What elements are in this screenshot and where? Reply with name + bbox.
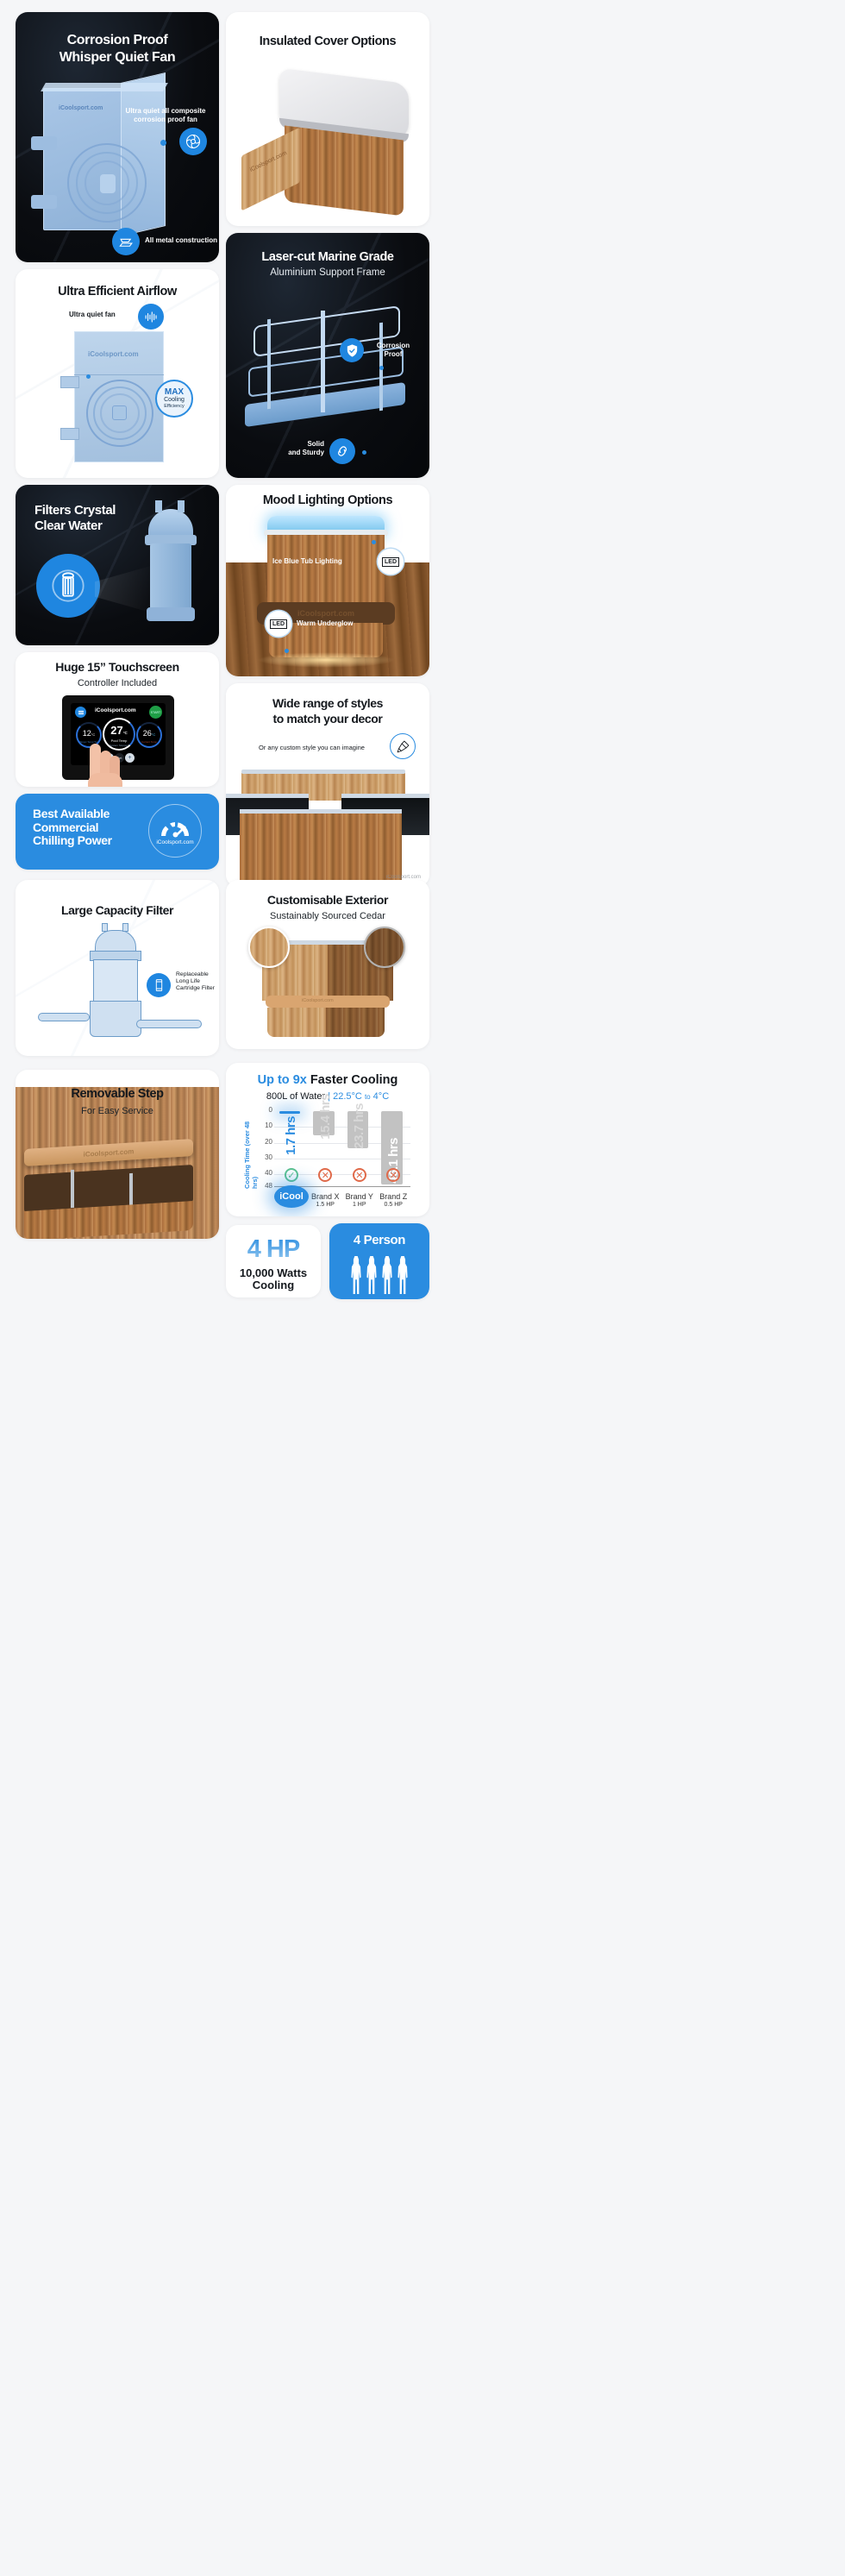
- cedar-panel: [285, 126, 404, 217]
- callout-line2: corrosion proof fan: [117, 116, 214, 124]
- current-temp-label: Current Temp: [138, 740, 160, 744]
- anchor-dot: [160, 140, 166, 146]
- callout-custom-style: Or any custom style you can imagine: [259, 744, 365, 751]
- person-icon: [397, 1256, 409, 1294]
- subtitle-to-word: to: [365, 1093, 371, 1101]
- card-subtitle: For Easy Service: [16, 1106, 219, 1117]
- screen-logo: iCoolsport.com: [95, 707, 136, 713]
- chart-bar-value-label: 1.7 hrs: [284, 1116, 298, 1155]
- target-temp-unit: °C: [91, 732, 96, 737]
- card-title-line1: Wide range of styles: [226, 697, 429, 711]
- card-title: Customisable Exterior: [226, 894, 429, 908]
- callout-all-metal: All metal construction: [145, 236, 217, 245]
- badge-cooling: Cooling: [164, 397, 185, 404]
- target-temp-value: 12: [83, 729, 91, 738]
- base-logo: iCoolsport.com: [297, 609, 354, 618]
- card-title: Removable Step: [16, 1087, 219, 1101]
- card-customisable-exterior: Customisable Exterior Sustainably Source…: [226, 880, 429, 1049]
- chart-title: Up to 9x Faster Cooling Up to 9x Faster …: [226, 1073, 429, 1087]
- card-title: Mood Lighting Options: [226, 493, 429, 507]
- pool-temp-label: Pool Temp: [104, 738, 134, 743]
- person-icon: [366, 1256, 378, 1294]
- person-icon: [350, 1256, 362, 1294]
- callout-ultra-quiet-text: Ultra quiet all composite corrosion proo…: [117, 107, 214, 123]
- max-cooling-efficiency-badge: MAX Cooling Efficiency: [155, 380, 193, 418]
- chart-x-label-group: Brand X1.5 HP: [309, 1192, 343, 1209]
- anchor-dot: [362, 450, 366, 455]
- card-mood-lighting: Mood Lighting Options iCoolsport.com Ice…: [226, 485, 429, 676]
- hot-tub-illustration: iCoolsport.com: [264, 516, 388, 663]
- chart-x-label: Brand Y: [342, 1192, 377, 1202]
- aluminium-frame-illustration: [241, 300, 414, 438]
- callout-line2: Proof: [367, 350, 419, 359]
- chart-x-label-group: Brand Z0.5 HP: [377, 1192, 411, 1209]
- filter-cartridge-icon: [36, 554, 100, 618]
- card-title: Ultra Efficient Airflow: [16, 285, 219, 298]
- current-temp-value: 26: [143, 729, 152, 738]
- chart-bar: [279, 1111, 300, 1114]
- cartridge-icon: [147, 973, 171, 997]
- anchor-dot: [86, 374, 91, 379]
- card-title: Laser-cut Marine Grade: [226, 250, 429, 264]
- chart-y-tick: 10: [253, 1122, 272, 1129]
- chart-x-label-group: Brand Y1 HP: [342, 1192, 377, 1209]
- callout-line2: and Sturdy: [276, 449, 324, 457]
- step-divider: [71, 1170, 74, 1208]
- chart-bar-value-label: 15.4 hrs: [318, 1094, 333, 1140]
- person-icon-group: [329, 1256, 429, 1294]
- card-title-line2: Whisper Quiet Fan: [16, 50, 219, 66]
- callout-warm-underglow: Warm Underglow: [297, 619, 353, 628]
- tub-cedar-wall: [267, 535, 385, 604]
- chart-title-rest: Faster Cooling: [310, 1073, 398, 1087]
- callout-line2: Long Life: [176, 978, 219, 985]
- anchor-dot: [379, 366, 384, 370]
- chain-link-icon: [329, 438, 355, 464]
- led-icon: LED: [378, 549, 404, 575]
- steel-beam-icon: [112, 228, 140, 255]
- chiller-logo: iCoolsport.com: [59, 105, 103, 111]
- person-icon: [381, 1256, 393, 1294]
- bar-chart: Cooling Time (over 48 hrs) 1.7 hrs✓15.4 …: [247, 1109, 416, 1206]
- card-title-line2: to match your decor: [226, 713, 429, 726]
- chilling-power-text: Best Available Commercial Chilling Power: [33, 807, 112, 848]
- card-corrosion-proof-fan: Corrosion Proof Whisper Quiet Fan iCools…: [16, 12, 219, 262]
- chart-x-sublabel: 1.5 HP: [309, 1202, 343, 1209]
- chart-x-label: Brand X: [309, 1192, 343, 1202]
- card-insulated-cover: Insulated Cover Options iCoolsport.com: [226, 12, 429, 226]
- chart-title-accent-visible: Up to 9x: [258, 1073, 307, 1087]
- chart-y-ticks: 01020304048: [253, 1109, 272, 1189]
- card-chilling-power: Best Available Commercial Chilling Power…: [16, 794, 219, 870]
- exterior-logo: iCoolsport.com: [302, 998, 334, 1003]
- card-subtitle: Sustainably Sourced Cedar: [226, 911, 429, 922]
- paint-brush-icon: [390, 733, 416, 759]
- subtitle-temp-from: 22.5°C: [333, 1091, 362, 1102]
- icool-pill-label: iCool: [279, 1191, 304, 1202]
- chart-bar-value-label: 23.7 hrs: [352, 1103, 366, 1149]
- chiller-logo: iCoolsport.com: [88, 350, 139, 358]
- pool-temp-unit: °C: [123, 731, 128, 735]
- callout-line1: Corrosion: [367, 342, 419, 350]
- card-title-line1: Corrosion Proof: [16, 33, 219, 48]
- callout-line3: Cartridge Filter: [176, 985, 219, 992]
- card-large-capacity-filter: Large Capacity Filter Replaceable Long L…: [16, 880, 219, 1056]
- cedar-comparison-illustration: iCoolsport.com: [262, 937, 393, 1039]
- callout-replaceable-cartridge: Replaceable Long Life Cartridge Filter: [176, 971, 219, 992]
- fan-blade-icon: [179, 128, 207, 155]
- card-title-line2: Clear Water: [34, 519, 102, 534]
- callout-solid-sturdy: Solid and Sturdy: [276, 440, 324, 456]
- chiller-front-illustration: iCoolsport.com: [74, 331, 164, 462]
- start-label: START: [151, 711, 160, 714]
- chilling-line3: Chilling Power: [33, 834, 112, 848]
- chiller-illustration: iCoolsport.com: [34, 74, 172, 247]
- gauge-logo: iCoolsport.com: [156, 839, 193, 845]
- card-ultra-efficient-airflow: Ultra Efficient Airflow Ultra quiet fan …: [16, 269, 219, 478]
- callout-line1: Replaceable: [176, 971, 219, 978]
- hp-line2: Cooling: [226, 1279, 321, 1291]
- card-capacity-person: 4 Person: [329, 1223, 429, 1299]
- led-icon: LED: [266, 611, 291, 637]
- hand-illustration: [83, 744, 129, 787]
- person-title: 4 Person: [329, 1234, 429, 1248]
- card-title: Huge 15” Touchscreen: [16, 661, 219, 675]
- card-marine-grade-frame: Laser-cut Marine Grade Aluminium Support…: [226, 233, 429, 478]
- chart-x-sublabel: 0.5 HP: [377, 1202, 411, 1209]
- led-badge-label: LED: [270, 619, 287, 629]
- card-title: Insulated Cover Options: [226, 35, 429, 48]
- callout-corrosion-proof: Corrosion Proof: [367, 342, 419, 358]
- hp-value: 4 HP: [226, 1235, 321, 1264]
- hp-line1: 10,000 Watts: [226, 1266, 321, 1279]
- badge-efficiency: Efficiency: [164, 404, 184, 409]
- gauge-icon: iCoolsport.com: [148, 804, 202, 858]
- feature-grid: Corrosion Proof Whisper Quiet Fan iCools…: [0, 0, 845, 2576]
- step-logo: iCoolsport.com: [84, 1147, 135, 1159]
- current-temp-unit: °C: [152, 732, 156, 737]
- icool-brand-pill: iCool: [274, 1185, 309, 1208]
- card-removable-step: Removable Step For Easy Service iCoolspo…: [16, 1070, 219, 1239]
- pool-temp-value: 27: [110, 724, 122, 737]
- card-faster-cooling-chart: Up to 9x Faster Cooling Up to 9x Faster …: [226, 1063, 429, 1216]
- subtitle-volume: 800L of Water: [266, 1091, 325, 1102]
- filter-vessel-illustration: [136, 499, 205, 628]
- callout-ice-blue-lighting: Ice Blue Tub Lighting: [272, 557, 342, 566]
- anchor-dot: [372, 540, 376, 544]
- start-button[interactable]: START: [149, 706, 162, 719]
- card-touchscreen: Huge 15” Touchscreen Controller Included…: [16, 652, 219, 787]
- chart-x-label: Brand Z: [377, 1192, 411, 1202]
- warm-underglow: [257, 652, 395, 668]
- led-badge-label: LED: [382, 557, 399, 567]
- chilling-line1: Best Available: [33, 807, 112, 821]
- tub-with-cover-illustration: iCoolsport.com: [241, 76, 414, 223]
- zoom-circle-dark-cedar: [364, 927, 405, 968]
- touchscreen-controller[interactable]: iCoolsport.com START 12°C Target Temp Se…: [62, 695, 174, 780]
- callout-ultra-quiet-fan: Ultra quiet fan: [69, 311, 116, 319]
- chilling-line2: Commercial: [33, 821, 112, 835]
- chart-y-tick: 0: [253, 1106, 272, 1114]
- chart-x-sublabel: 1 HP: [342, 1202, 377, 1209]
- card-subtitle: Controller Included: [16, 678, 219, 689]
- chart-y-tick: 40: [253, 1169, 272, 1177]
- callout-line1: Ultra quiet all composite: [117, 107, 214, 116]
- zoom-circle-light-cedar: [248, 927, 290, 968]
- card-title-line1: Filters Crystal: [34, 504, 116, 518]
- hamburger-icon[interactable]: [75, 707, 86, 718]
- card-subtitle: Aluminium Support Frame: [226, 267, 429, 280]
- anchor-dot: [285, 649, 289, 653]
- card-wide-range-styles: Wide range of styles to match your decor…: [226, 683, 429, 887]
- callout-line1: Solid: [276, 440, 324, 449]
- tub-styles-illustration: iCoolsport.com: [233, 773, 422, 882]
- chart-y-tick: 48: [253, 1182, 272, 1190]
- chart-check-icon: ✓: [285, 1168, 298, 1182]
- chart-y-tick: 30: [253, 1153, 272, 1161]
- card-horsepower: 4 HP 10,000 Watts Cooling: [226, 1225, 321, 1297]
- card-title: Large Capacity Filter: [16, 904, 219, 918]
- subtitle-temp-to: 4°C: [373, 1091, 389, 1102]
- shield-check-icon: [340, 338, 364, 362]
- chart-plot-area: 1.7 hrs✓15.4 hrs✕23.7 hrs✕46.1 hrs✕: [274, 1111, 410, 1187]
- chart-y-tick: 20: [253, 1138, 272, 1146]
- filter-illustration: [76, 930, 155, 1047]
- current-temp-dial[interactable]: 26°C Current Temp: [136, 722, 162, 748]
- badge-max: MAX: [165, 388, 184, 397]
- sound-wave-icon: [138, 304, 164, 330]
- card-filters-crystal-clear-water: Filters Crystal Clear Water: [16, 485, 219, 645]
- chart-cross-icon: ✕: [353, 1168, 366, 1182]
- chart-cross-icon: ✕: [318, 1168, 332, 1182]
